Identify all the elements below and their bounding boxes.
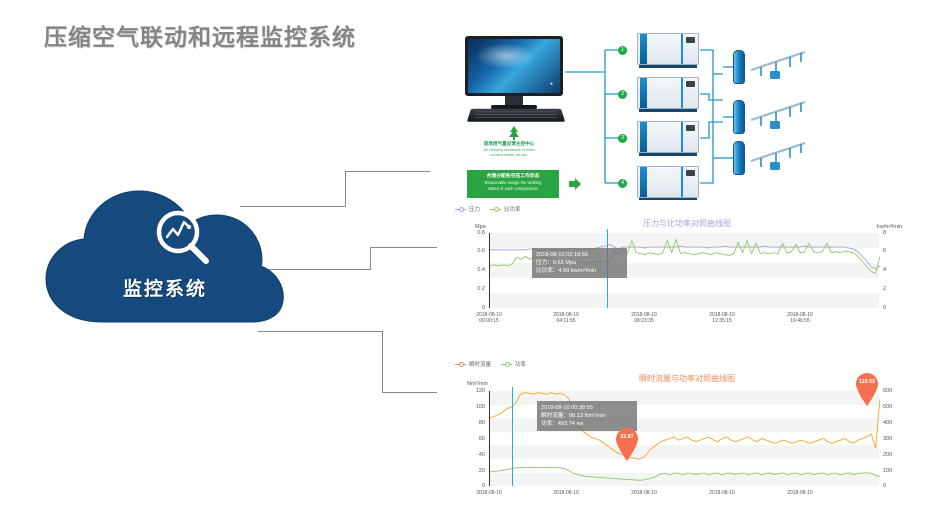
chart2-marker-value: 110.55	[854, 379, 880, 385]
chart2-ytick-right: 500	[883, 404, 899, 410]
chart1-xtick: 2018-08-10 12:35:15	[695, 312, 749, 325]
chart1-ytick: 0.2	[469, 286, 485, 292]
chart1-ytick: 0	[469, 305, 485, 311]
system-diagram-panel: ● 现场用气量反馈主控中心 Air delivery feedback of m…	[437, 22, 937, 205]
legend-marker-icon	[490, 209, 501, 210]
monitoring-cloud[interactable]: 监控系统	[40, 184, 290, 330]
connector-line-1-seg2	[345, 171, 346, 207]
assign-states-box: 合理分配各空压工作状态 Reasonable assign the workin…	[467, 170, 559, 198]
chart1-xtick: 2018-08-10 00:00:15	[462, 312, 516, 325]
assign-states-en-2: states of each compressors	[467, 186, 559, 191]
control-center-label-en-2: control center on site	[461, 152, 557, 157]
chart2-ytick-right: 100	[883, 468, 899, 474]
chart2-ytick: 40	[469, 452, 485, 458]
legend-marker-icon	[455, 364, 466, 365]
connector-line-3-seg2	[382, 331, 383, 392]
chart1-xtick: 2018-08-10 16:46:55	[773, 312, 827, 325]
compressor-unit	[637, 166, 699, 202]
chart2-tooltip-time: 2018-08-10 00:38:55	[541, 404, 633, 412]
screen-logo: ●	[550, 81, 553, 87]
legend-marker-icon	[455, 209, 466, 210]
chart1-legend[interactable]: 压力 比功率	[455, 205, 521, 213]
legend-item-specific-power[interactable]: 比功率	[490, 205, 521, 213]
node-badge: 3	[618, 134, 627, 143]
chart1-tooltip-line1: 压力：0.63 Mpa	[536, 259, 623, 267]
chart2-ytick: 100	[469, 404, 485, 410]
chart2-marker-value: 33.87	[614, 434, 640, 440]
chart2-marker-pin[interactable]: 33.87	[614, 427, 640, 461]
chart2-ytick: 120	[469, 388, 485, 394]
chart1-title: 压力与比功率对照曲线图	[567, 218, 807, 229]
chart2-tooltip-line1: 瞬时流量：98.13 Nm³/min	[541, 412, 633, 420]
chart1-ytick: 0.6	[469, 248, 485, 254]
connector-line-3-seg3	[382, 392, 440, 393]
page-title: 压缩空气联动和远程监控系统	[44, 18, 356, 52]
chart1-tooltip: 2018-08-10 02:19:55 压力：0.63 Mpa 比功率：4.99…	[532, 248, 627, 278]
screen-glare	[476, 43, 536, 69]
air-tank-icon	[733, 100, 745, 134]
chart2-xtick: 2018-08-10	[539, 490, 593, 496]
legend-label: 压力	[469, 205, 480, 213]
connector-line-2-seg3	[370, 247, 440, 248]
chart1-ytick-right: 6	[883, 248, 899, 254]
legend-marker-icon	[501, 364, 512, 365]
chart2-xtick: 2018-08-10	[462, 490, 516, 496]
chart2-legend[interactable]: 瞬时流量 功率	[455, 360, 526, 368]
pressure-chart-panel[interactable]: 压力 比功率 压力与比功率对照曲线图 Mpa kw/m³/min 0.8 0.6…	[437, 200, 937, 335]
compressor-unit	[637, 77, 699, 113]
chart2-ytick: 20	[469, 468, 485, 474]
keyboard-icon	[467, 109, 565, 122]
chart1-xtick: 2018-08-10 08:23:35	[617, 312, 671, 325]
monitor-neck	[505, 96, 523, 105]
chart1-ytick-right: 8	[883, 230, 899, 236]
chart1-xtick: 2018-08-10 04:11:55	[539, 312, 593, 325]
chart2-ytick: 60	[469, 436, 485, 442]
connector-line-3-seg1	[258, 331, 382, 332]
chart2-ytick-right: 300	[883, 436, 899, 442]
legend-label: 瞬时流量	[469, 360, 491, 368]
chart2-title: 瞬时流量与功率对照曲线图	[567, 373, 807, 384]
tool-station-icon	[749, 135, 809, 179]
chart1-tooltip-time: 2018-08-10 02:19:55	[536, 251, 623, 259]
desktop-monitor-icon: ●	[465, 36, 563, 118]
chart1-ytick-right: 4	[883, 267, 899, 273]
chart1-ytick-right: 0	[883, 305, 899, 311]
tool-station-icon	[749, 94, 809, 138]
pine-tree-icon	[507, 126, 521, 140]
chart2-xtick: 2018-08-10	[773, 490, 827, 496]
chart2-xtick: 2018-08-10	[695, 490, 749, 496]
chart2-xtick: 2018-08-10	[617, 490, 671, 496]
slide-root: 压缩空气联动和远程监控系统 监控系统	[0, 0, 945, 529]
green-arrow-right-icon	[568, 177, 582, 191]
compressor-unit	[637, 121, 699, 157]
chart2-ytick: 0	[469, 483, 485, 489]
legend-label: 比功率	[504, 205, 521, 213]
chart2-ytick-right: 600	[883, 388, 899, 394]
compressor-unit	[637, 33, 699, 69]
legend-label: 功率	[515, 360, 526, 368]
monitor-screen: ●	[465, 36, 563, 96]
chart2-ytick-right: 400	[883, 420, 899, 426]
air-tank-icon	[733, 141, 745, 175]
chart2-marker-pin[interactable]: 110.55	[854, 372, 880, 406]
chart1-ytick: 0.4	[469, 267, 485, 273]
chart2-ytick: 80	[469, 420, 485, 426]
chart2-ylabel-left: Nm³/min	[467, 381, 488, 387]
legend-item-pressure[interactable]: 压力	[455, 205, 480, 213]
chart1-tooltip-line2: 比功率：4.99 kw/m³/min	[536, 267, 623, 275]
map-pin-icon	[614, 427, 640, 461]
legend-item-flow[interactable]: 瞬时流量	[455, 360, 491, 368]
node-badge: 4	[618, 179, 627, 188]
chart2-time-cursor[interactable]	[512, 387, 513, 486]
chart1-ytick-right: 2	[883, 286, 899, 292]
node-badge: 2	[618, 90, 627, 99]
legend-item-power[interactable]: 功率	[501, 360, 526, 368]
cloud-label: 监控系统	[40, 274, 290, 301]
map-pin-icon	[854, 372, 880, 406]
chart1-ytick: 0.8	[469, 230, 485, 236]
connector-line-1-seg3	[345, 171, 430, 172]
chart2-ytick-right: 0	[883, 483, 899, 489]
node-badge: 1	[618, 46, 627, 55]
magnifier-chart-icon	[152, 208, 214, 266]
flow-chart-panel[interactable]: 瞬时流量 功率 瞬时流量与功率对照曲线图 Nm³/min 120 100 80 …	[437, 355, 937, 529]
connector-line-2-seg2	[370, 247, 371, 270]
tool-station-icon	[749, 44, 809, 88]
air-tank-icon	[733, 50, 745, 84]
chart2-ytick-right: 200	[883, 452, 899, 458]
control-center-label: 现场用气量反馈主控中心 Air delivery feedback of mai…	[461, 141, 557, 157]
